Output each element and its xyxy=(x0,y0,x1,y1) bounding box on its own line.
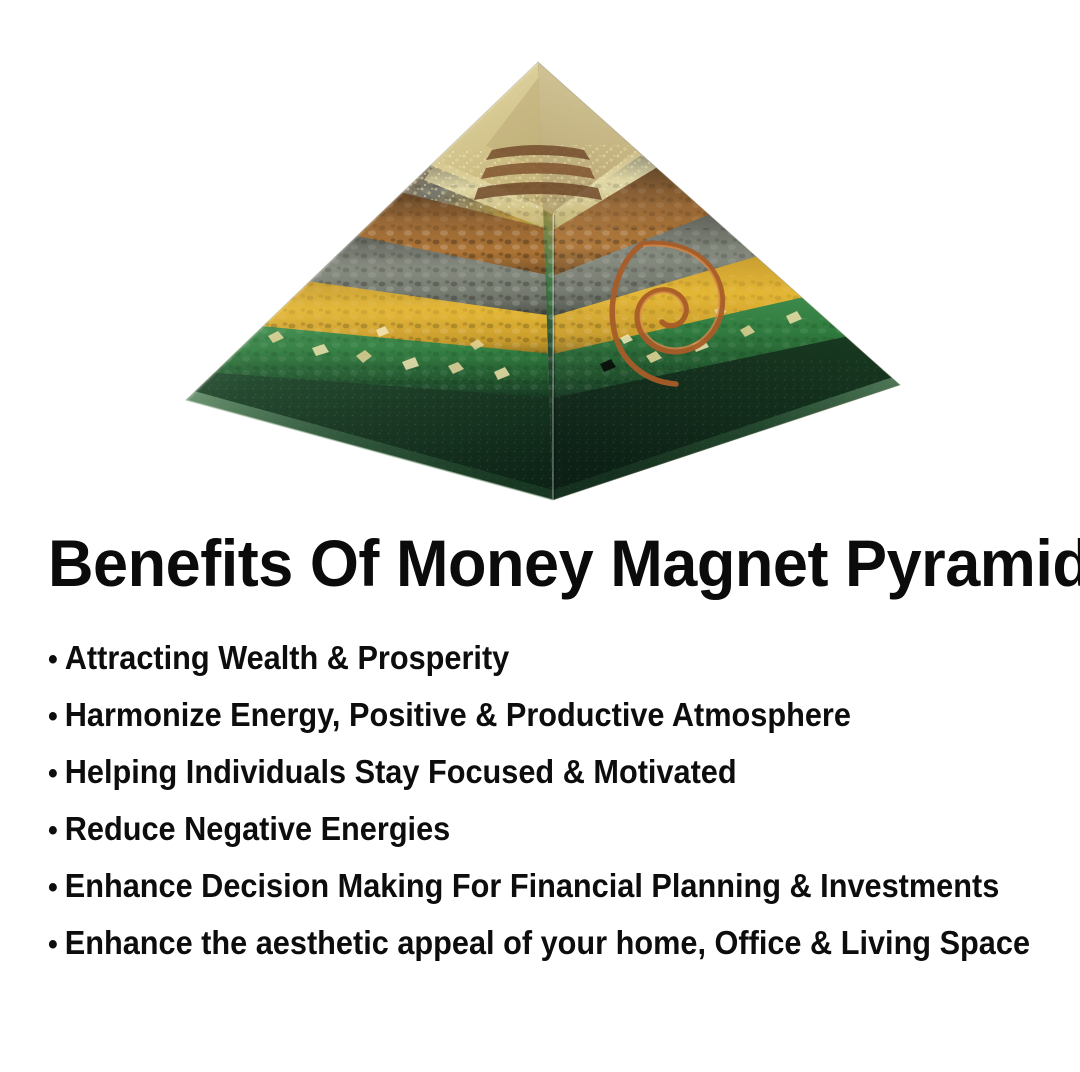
bullet-icon: • xyxy=(48,641,65,679)
list-item: •Enhance the aesthetic appeal of your ho… xyxy=(48,924,987,981)
list-item: •Harmonize Energy, Positive & Productive… xyxy=(48,696,987,753)
bullet-icon: • xyxy=(48,926,65,964)
product-image xyxy=(0,0,1080,515)
pyramid-front-edge xyxy=(553,215,555,500)
list-item: •Attracting Wealth & Prosperity xyxy=(48,639,987,696)
pyramid-photo xyxy=(0,0,1080,515)
list-item-label: Enhance Decision Making For Financial Pl… xyxy=(65,867,1000,904)
bullet-icon: • xyxy=(48,755,65,793)
page-title: Benefits Of Money Magnet Pyramid xyxy=(48,527,1003,599)
list-item-label: Harmonize Energy, Positive & Productive … xyxy=(65,696,851,733)
list-item-label: Reduce Negative Energies xyxy=(65,810,450,847)
list-item-label: Helping Individuals Stay Focused & Motiv… xyxy=(65,753,737,790)
list-item: •Enhance Decision Making For Financial P… xyxy=(48,867,987,924)
benefits-list: •Attracting Wealth & Prosperity •Harmoni… xyxy=(48,639,1058,981)
list-item: •Reduce Negative Energies xyxy=(48,810,987,867)
apex-inner-detail xyxy=(474,145,602,200)
product-benefits-page: Benefits Of Money Magnet Pyramid •Attrac… xyxy=(0,0,1080,1072)
bullet-icon: • xyxy=(48,698,65,736)
list-item-label: Enhance the aesthetic appeal of your hom… xyxy=(65,924,1030,961)
bullet-icon: • xyxy=(48,869,65,907)
list-item: •Helping Individuals Stay Focused & Moti… xyxy=(48,753,987,810)
bullet-icon: • xyxy=(48,812,65,850)
list-item-label: Attracting Wealth & Prosperity xyxy=(65,639,510,676)
